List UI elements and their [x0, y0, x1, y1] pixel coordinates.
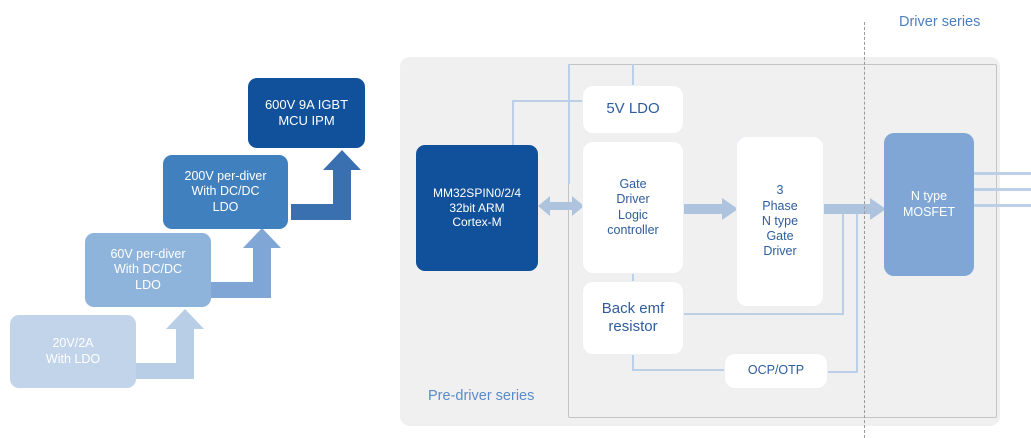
label-driver-series: Driver series	[899, 14, 980, 30]
block-3phase-line3: N type	[737, 214, 823, 229]
block-mcu-mm32spin[interactable]: MM32SPIN0/2/432bit ARMCortex-M	[416, 145, 538, 271]
block-5v-ldo-label: 5V LDO	[583, 100, 683, 118]
block-60v-text: 60V per-diverWith DC/DCLDO	[85, 247, 211, 293]
block-back-emf-resistor[interactable]: Back emfresistor	[582, 281, 684, 355]
wire-inner-left-rail	[568, 64, 570, 184]
driver-series-divider	[864, 22, 865, 438]
block-mcu-line2: 32bit ARM	[416, 201, 538, 216]
block-20v-with-ldo[interactable]: 20V/2AWith LDO	[10, 315, 136, 388]
block-gdlc-line4: controller	[583, 223, 683, 238]
wire-backemf-rail-up	[842, 208, 844, 315]
block-mcu-text: MM32SPIN0/2/432bit ARMCortex-M	[416, 186, 538, 230]
block-20v-line2: With LDO	[10, 352, 136, 367]
block-3phase-text: 3PhaseN typeGateDriver	[737, 183, 823, 259]
arrow-20v-to-60v	[130, 307, 214, 387]
block-gdlc-line2: Driver	[583, 192, 683, 207]
output-lead-1	[972, 172, 1031, 175]
block-backemf-line1: Back emf	[583, 300, 683, 318]
block-backemf-line2: resistor	[583, 318, 683, 336]
block-gate-driver-logic-controller[interactable]: GateDriverLogiccontroller	[582, 141, 684, 274]
block-backemf-text: Back emfresistor	[583, 300, 683, 337]
wire-backemf-to-ocp	[632, 369, 726, 371]
diagram-canvas: 20V/2AWith LDO 60V per-diverWith DC/DCLD…	[0, 0, 1031, 438]
block-200v-pre-driver[interactable]: 200V per-diverWith DC/DCLDO	[163, 155, 288, 229]
block-mcu-line1: MM32SPIN0/2/4	[416, 186, 538, 201]
wire-5vldo-left-run	[512, 100, 584, 102]
block-mcu-line3: Cortex-M	[416, 215, 538, 230]
block-20v-line1: 20V/2A	[10, 336, 136, 351]
block-gdlc-line3: Logic	[583, 208, 683, 223]
arrow-200v-to-ipm	[287, 148, 371, 228]
block-ocp-otp-label: OCP/OTP	[725, 363, 827, 378]
wire-backemf-to-rail	[684, 313, 844, 315]
block-ocp-otp[interactable]: OCP/OTP	[724, 353, 828, 389]
block-5v-ldo[interactable]: 5V LDO	[582, 85, 684, 134]
wire-5vldo-top	[632, 64, 634, 86]
block-200v-text: 200V per-diverWith DC/DCLDO	[163, 169, 288, 215]
block-n-type-mosfet[interactable]: N typeMOSFET	[884, 133, 974, 276]
block-20v-text: 20V/2AWith LDO	[10, 336, 136, 367]
block-gdlc-text: GateDriverLogiccontroller	[583, 177, 683, 238]
block-gdlc-line1: Gate	[583, 177, 683, 192]
block-3phase-line4: Gate	[737, 229, 823, 244]
block-200v-line3: LDO	[163, 200, 288, 215]
arrow-mcu-gatedriver-bidirectional	[538, 192, 584, 220]
arrow-60v-to-200v	[207, 226, 291, 306]
label-pre-driver-series: Pre-driver series	[428, 388, 534, 404]
block-ipm-text: 600V 9A IGBTMCU IPM	[248, 97, 365, 129]
block-3phase-line5: Driver	[737, 244, 823, 259]
block-3phase-line1: 3	[737, 183, 823, 198]
block-mosfet-text: N typeMOSFET	[884, 189, 974, 220]
block-200v-line1: 200V per-diver	[163, 169, 288, 184]
block-60v-line3: LDO	[85, 278, 211, 293]
arrow-3phase-to-mosfet	[824, 198, 886, 220]
block-3-phase-n-type-gate-driver[interactable]: 3PhaseN typeGateDriver	[736, 136, 824, 307]
arrow-gatedriver-to-3phase	[684, 198, 738, 220]
block-200v-line2: With DC/DC	[163, 184, 288, 199]
wire-ocp-to-rail	[826, 371, 858, 373]
output-lead-3	[972, 204, 1031, 207]
block-600v-igbt-mcu-ipm[interactable]: 600V 9A IGBTMCU IPM	[248, 78, 365, 148]
wire-ocp-rail-up	[856, 210, 858, 371]
block-60v-line1: 60V per-diver	[85, 247, 211, 262]
block-mosfet-line2: MOSFET	[884, 205, 974, 220]
block-mosfet-line1: N type	[884, 189, 974, 204]
output-lead-2	[972, 188, 1031, 191]
block-60v-line2: With DC/DC	[85, 262, 211, 277]
block-ipm-line1: 600V 9A IGBT	[248, 97, 365, 113]
block-3phase-line2: Phase	[737, 199, 823, 214]
block-60v-pre-driver[interactable]: 60V per-diverWith DC/DCLDO	[85, 233, 211, 307]
block-ipm-line2: MCU IPM	[248, 113, 365, 129]
